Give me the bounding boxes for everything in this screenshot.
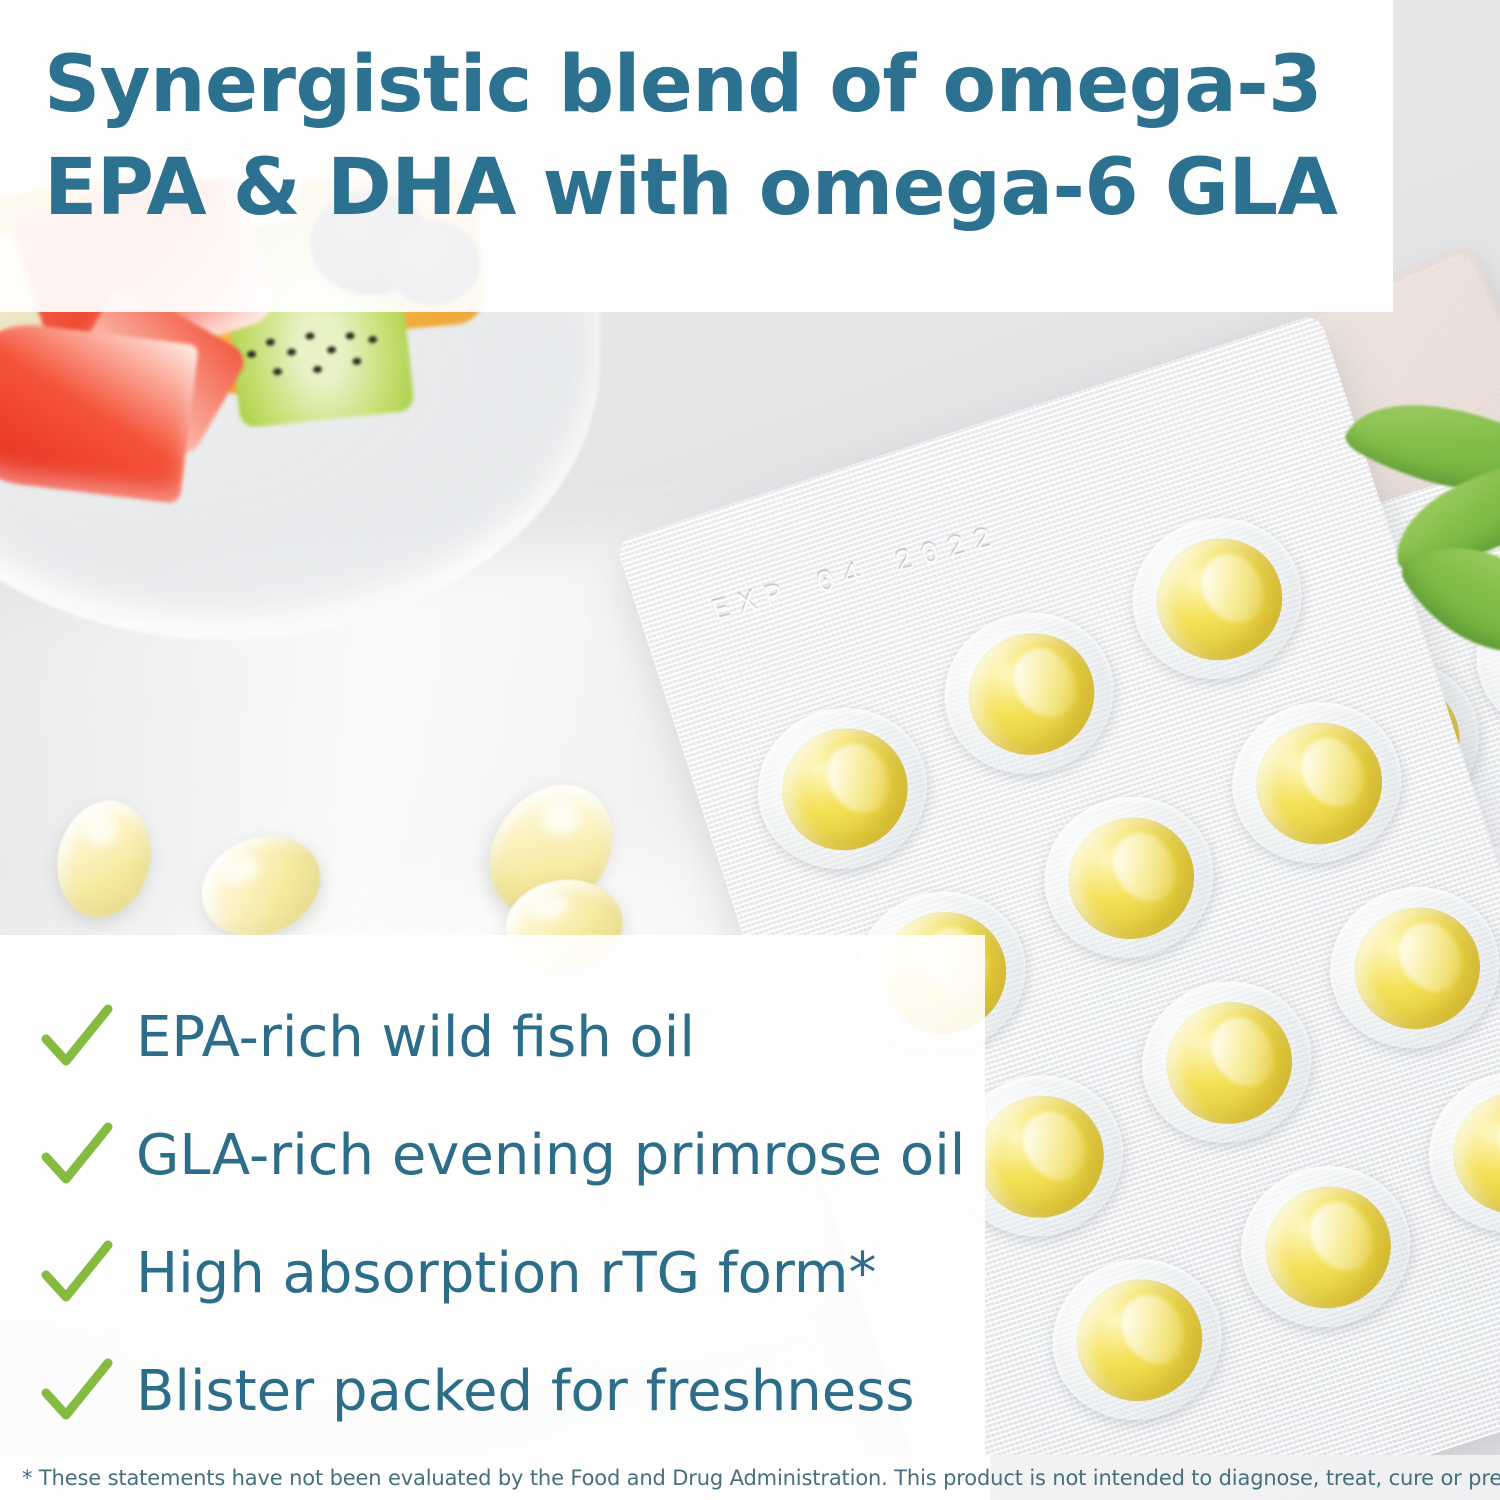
- benefits-panel: EPA-rich wild fish oil GLA-rich evening …: [0, 935, 985, 1455]
- benefit-item-blister-packed-for-freshness: Blister packed for freshness: [0, 1333, 985, 1451]
- softgel-capsule: [1338, 891, 1495, 1046]
- softgel-capsule: [1052, 801, 1209, 956]
- check-mark-icon: [40, 1119, 114, 1193]
- check-mark-icon: [40, 1001, 114, 1075]
- check-mark-icon: [40, 1237, 114, 1311]
- benefit-label: High absorption rTG form*: [136, 1246, 876, 1302]
- softgel-capsule: [1240, 706, 1397, 861]
- softgel-capsule: [1141, 522, 1298, 677]
- softgel-capsule: [953, 617, 1110, 772]
- benefit-label: GLA-rich evening primrose oil: [136, 1128, 965, 1184]
- benefit-item-gla-rich-evening-primrose-oil: GLA-rich evening primrose oil: [0, 1097, 985, 1215]
- softgel-capsule: [1249, 1170, 1406, 1325]
- softgel-capsule: [962, 1080, 1119, 1235]
- strawberry-slice-icon: [0, 316, 199, 504]
- footer-band: * These statements have not been evaluat…: [0, 1455, 1500, 1500]
- benefit-label: EPA-rich wild fish oil: [136, 1010, 695, 1066]
- headline-panel: Synergistic blend of omega-3 EPA & DHA w…: [0, 0, 1393, 312]
- benefit-item-high-absorption-rtg-form: High absorption rTG form*: [0, 1215, 985, 1333]
- softgel-capsule: [1061, 1263, 1218, 1418]
- benefit-item-epa-rich-wild-fish-oil: EPA-rich wild fish oil: [0, 979, 985, 1097]
- headline-line-2: EPA & DHA with omega-6 GLA: [44, 137, 1393, 240]
- fda-disclaimer-text: * These statements have not been evaluat…: [22, 1466, 1500, 1490]
- softgel-capsule: [766, 712, 923, 867]
- headline-line-1: Synergistic blend of omega-3: [44, 34, 1393, 137]
- product-infographic: EXP 04 2022 Synergistic blend of omega-3…: [0, 0, 1500, 1500]
- check-mark-icon: [40, 1355, 114, 1429]
- benefit-label: Blister packed for freshness: [136, 1364, 915, 1420]
- softgel-capsule: [1150, 986, 1307, 1141]
